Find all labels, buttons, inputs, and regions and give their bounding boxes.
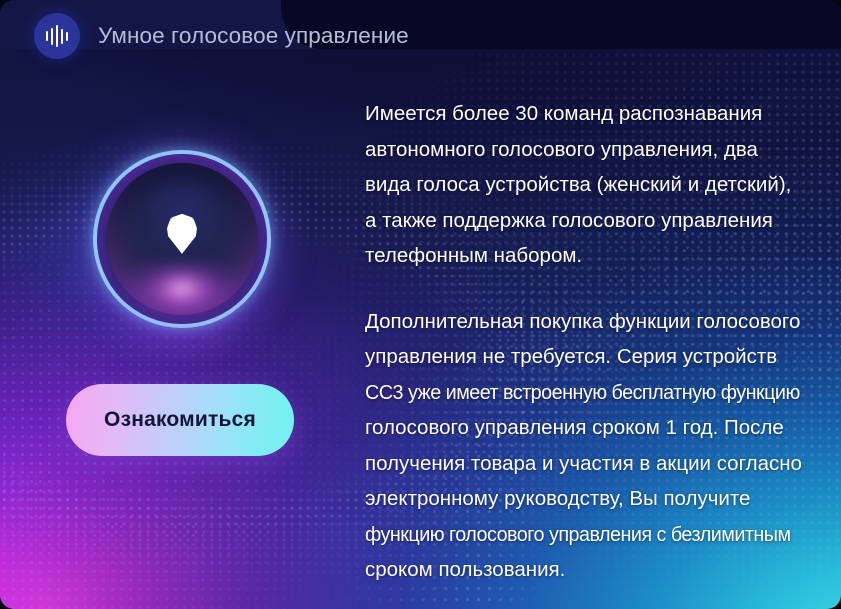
paragraph-1-line-1: Имеется более 30 команд распознавания — [365, 96, 807, 132]
paragraph-2-line-8: сроком пользования. — [365, 552, 807, 588]
paragraph-2-line-1: Дополнительная покупка функции голосовог… — [365, 304, 807, 340]
learn-more-button[interactable]: Ознакомиться — [66, 384, 294, 456]
paragraph-2-line-7: функцию голосового управления с безлимит… — [365, 517, 792, 553]
page-title: Умное голосовое управление — [98, 23, 409, 49]
paragraph-2-line-6: электронному руководству, Вы получите — [365, 481, 807, 517]
paragraph-2-line-2: управления не требуется. Серия устройств — [365, 339, 807, 375]
left-panel: Ознакомиться — [0, 72, 355, 609]
paragraph-1: Имеется более 30 команд распознавания ав… — [365, 96, 807, 274]
logo-badge — [34, 13, 80, 59]
paragraph-1-line-3: вида голоса устройства (женский и детски… — [365, 167, 807, 203]
voice-control-promo-card: Умное голосовое управление Ознакомиться … — [0, 0, 841, 609]
paragraph-1-line-4: а также поддержка голосового управления — [365, 203, 807, 239]
orb-ring — [97, 154, 267, 324]
description-text-column: Имеется более 30 команд распознавания ав… — [365, 96, 807, 588]
paragraph-2-line-5: получения товара и участия в акции согла… — [365, 446, 807, 482]
voice-assistant-orb[interactable] — [97, 154, 267, 324]
paragraph-1-line-2: автономного голосового управления, два — [365, 132, 807, 168]
paragraph-1-line-5: телефонным набором. — [365, 238, 807, 274]
paragraph-2: Дополнительная покупка функции голосовог… — [365, 304, 807, 588]
voice-waveform-icon — [46, 25, 69, 47]
header: Умное голосовое управление — [0, 0, 409, 72]
paragraph-2-line-3: CC3 уже имеет встроенную бесплатную функ… — [365, 375, 792, 411]
paragraph-2-line-4: голосового управления сроком 1 год. Посл… — [365, 410, 807, 446]
